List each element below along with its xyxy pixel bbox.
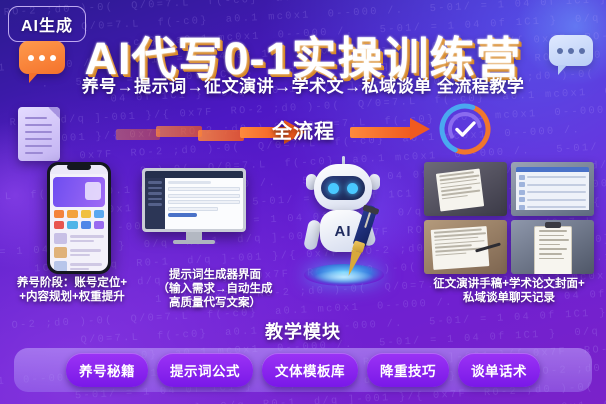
caption-photos-line1: 征文演讲手稿+学术论文封面+ [418,277,600,291]
caption-photos-line2: 私域谈单聊天记录 [418,291,600,305]
ai-robot-mascot: AI [296,158,392,284]
caption-monitor-line2: （输入需求→自动生成 [145,282,285,296]
process-flow-band: 全流程 [0,100,606,162]
module-pill[interactable]: 谈单话术 [458,353,540,387]
module-pill[interactable]: 提示词公式 [157,353,253,387]
photo-chat-window [511,162,594,216]
caption-phone-line2: +内容规划+权重提升 [2,290,142,304]
module-pill[interactable]: 降重技巧 [367,353,449,387]
caption-monitor-line3: 高质量代写文案） [145,296,285,310]
modules-heading: 教学模块 [0,318,606,344]
module-pill-band: 养号秘籍提示词公式文体模板库降重技巧谈单话术 [14,348,592,392]
phone-mockup [47,162,111,274]
flow-label: 全流程 [272,115,335,144]
module-pill[interactable]: 养号秘籍 [66,353,148,387]
caption-monitor: 提示词生成器界面 （输入需求→自动生成 高质量代写文案） [145,268,285,310]
caption-phone: 养号阶段：账号定位+ +内容规划+权重提升 [2,276,142,304]
page-subtitle: 养号→提示词→征文演讲→学术文→私域谈单 全流程教学 [0,72,606,97]
check-circle-progress-icon [437,101,493,157]
sample-photo-grid [424,162,594,274]
caption-phone-line1: 养号阶段：账号定位+ [2,276,142,290]
photo-papers-with-pen [424,220,507,274]
module-pill[interactable]: 文体模板库 [262,353,358,387]
caption-monitor-line1: 提示词生成器界面 [145,268,285,282]
photo-clipboard-laptop [511,220,594,274]
document-page-icon [18,107,60,161]
poster-canvas: 01 }/{ 0x7F RO-2 ;d0 )-0( Q/0=7.L f(-c0}… [0,0,606,404]
photo-handheld-document [424,162,507,216]
caption-photos: 征文演讲手稿+学术论文封面+ 私域谈单聊天记录 [418,277,600,305]
desktop-monitor-mockup [142,168,246,244]
